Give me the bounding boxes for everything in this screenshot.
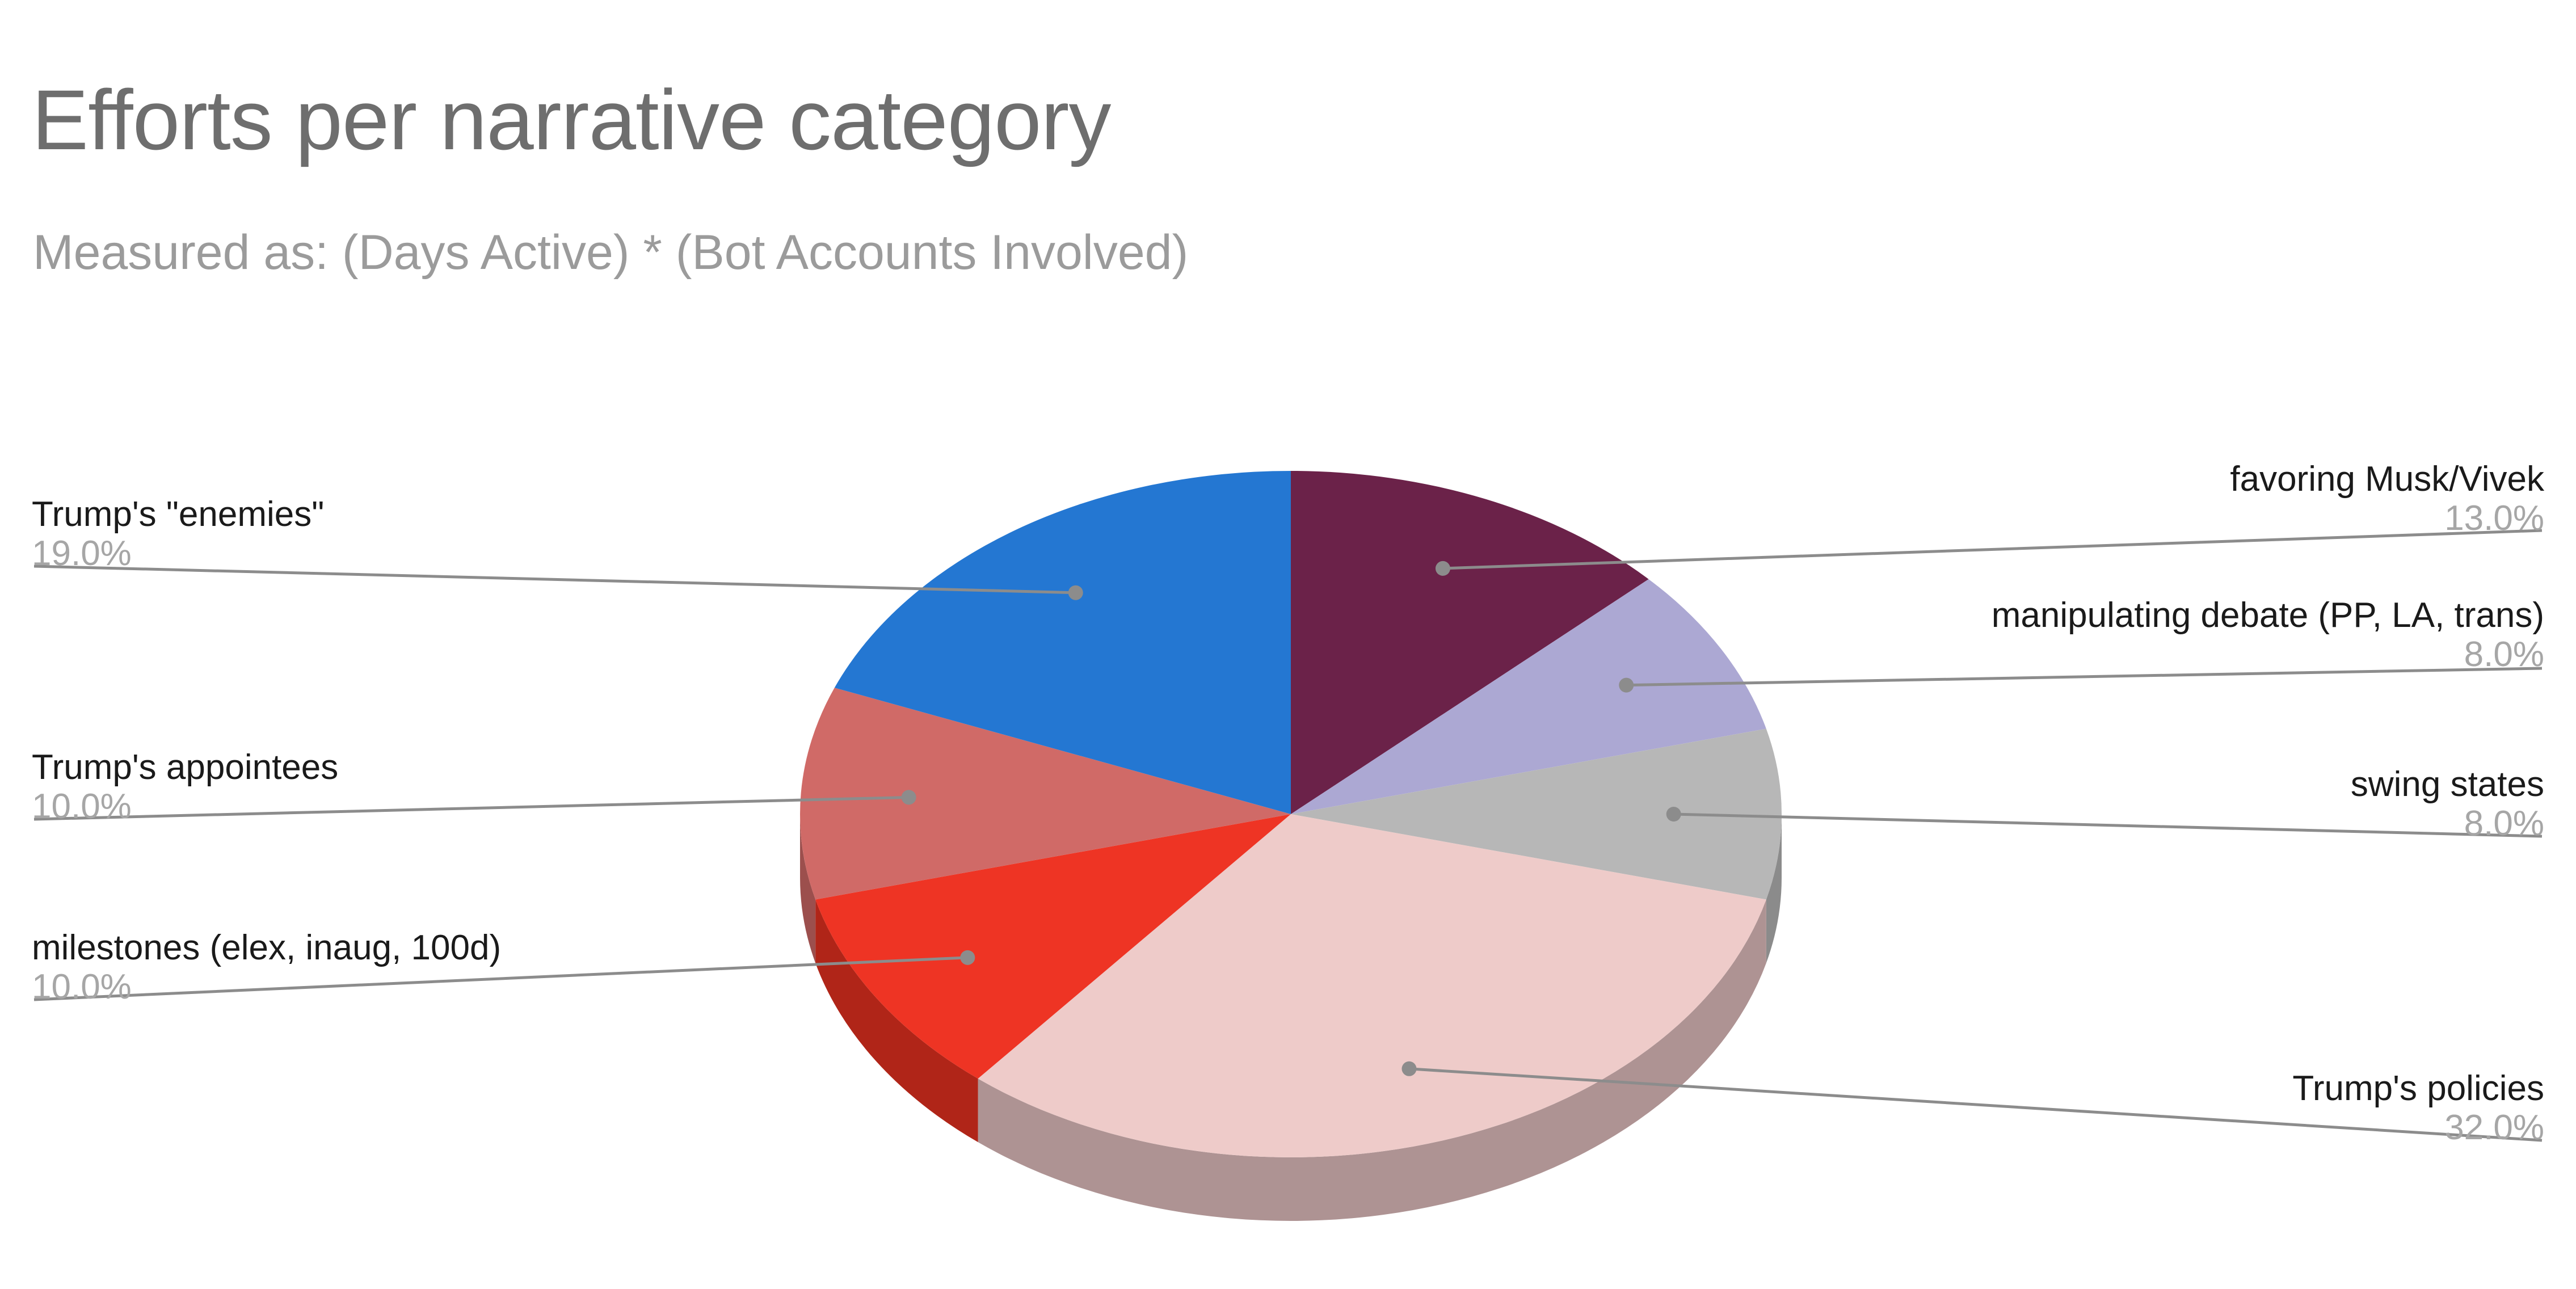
pie-slice — [835, 471, 1291, 814]
pie-slice — [1291, 471, 1649, 814]
slice-label-trumps-enemies: Trump's "enemies" 19.0% — [32, 495, 324, 574]
leader-dot — [902, 790, 916, 804]
slice-label-name: Trump's policies — [2292, 1069, 2544, 1108]
pie-slice-side — [800, 814, 815, 963]
slice-label-favoring-musk-vivek: favoring Musk/Vivek 13.0% — [2230, 460, 2544, 538]
slice-label-trumps-policies: Trump's policies 32.0% — [2292, 1069, 2544, 1148]
pie-top-faces — [800, 471, 1782, 1157]
slice-label-name: milestones (elex, inaug, 100d) — [32, 928, 501, 967]
page-title: Efforts per narrative category — [32, 77, 1110, 163]
slice-label-percent: 10.0% — [32, 967, 501, 1006]
pie-slice — [1291, 729, 1782, 900]
leader-dot — [1068, 585, 1083, 600]
slice-label-name: manipulating debate (PP, LA, trans) — [1992, 596, 2544, 635]
slice-label-milestones: milestones (elex, inaug, 100d) 10.0% — [32, 928, 501, 1007]
pie-slice — [978, 814, 1766, 1157]
pie-3d-side-walls — [800, 814, 1782, 1221]
slice-label-trumps-appointees: Trump's appointees 10.0% — [32, 748, 338, 827]
chart-subtitle: Measured as: (Days Active) * (Bot Accoun… — [33, 227, 1188, 278]
pie-slice-side — [978, 899, 1766, 1221]
slice-label-percent: 19.0% — [32, 534, 324, 573]
slice-label-percent: 8.0% — [1992, 635, 2544, 674]
slice-label-name: swing states — [2351, 765, 2544, 804]
pie-chart-slide: Efforts per narrative category Measured … — [0, 0, 2576, 1289]
leader-dot — [1436, 561, 1450, 576]
leader-dot — [1666, 807, 1681, 822]
leader-dot — [1619, 678, 1634, 693]
pie-slice-side — [1766, 814, 1782, 963]
slice-label-name: Trump's appointees — [32, 748, 338, 787]
pie-slice-side — [815, 899, 978, 1142]
slice-label-swing-states: swing states 8.0% — [2351, 765, 2544, 844]
pie-slice — [815, 814, 1291, 1079]
slice-label-name: favoring Musk/Vivek — [2230, 460, 2544, 499]
slice-label-percent: 10.0% — [32, 787, 338, 826]
slice-label-percent: 13.0% — [2230, 499, 2544, 538]
leader-dot — [960, 950, 975, 965]
slice-label-percent: 32.0% — [2292, 1108, 2544, 1147]
leader-dot — [1401, 1061, 1416, 1076]
slice-label-percent: 8.0% — [2351, 804, 2544, 843]
slice-label-manipulating-debate: manipulating debate (PP, LA, trans) 8.0% — [1992, 596, 2544, 675]
pie-slice — [800, 688, 1291, 899]
pie-slice — [1291, 579, 1766, 814]
slice-label-name: Trump's "enemies" — [32, 495, 324, 534]
